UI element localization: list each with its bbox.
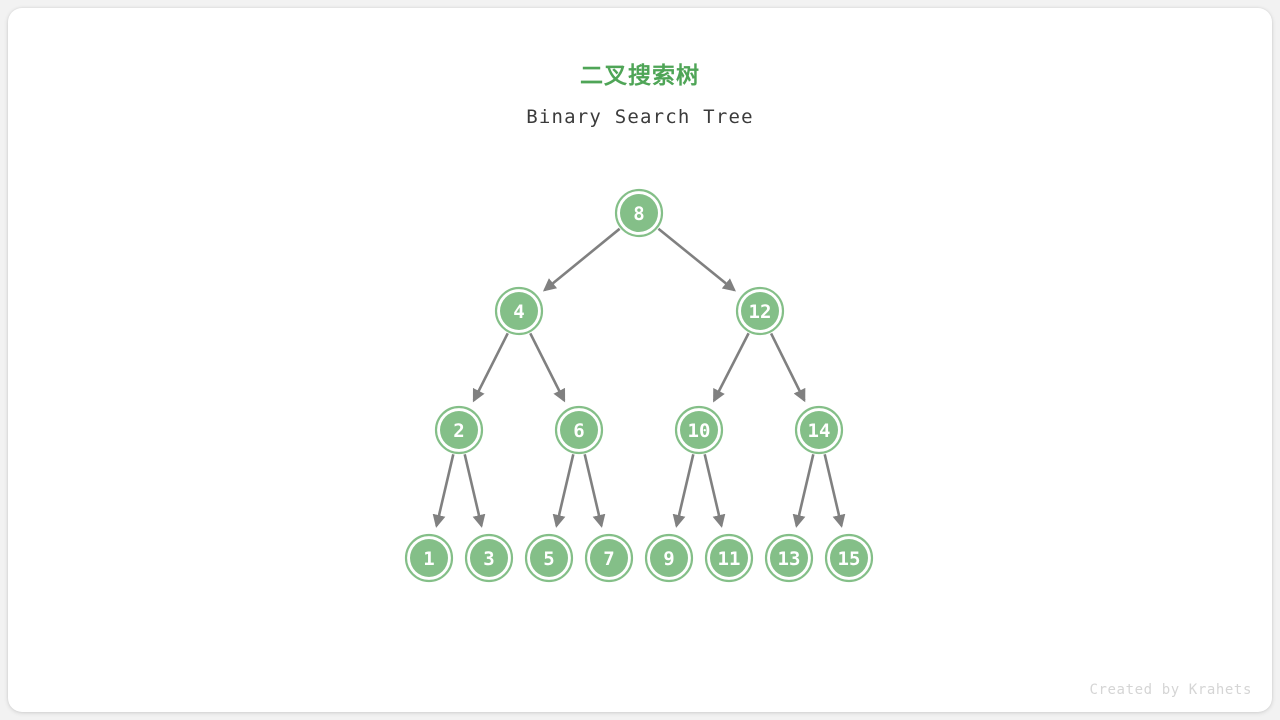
node-label: 2 xyxy=(453,420,464,442)
credit-watermark: Created by Krahets xyxy=(1089,682,1252,698)
tree-node-13[interactable]: 13 xyxy=(766,535,812,581)
tree-edge-2-to-1 xyxy=(437,454,454,526)
tree-edges xyxy=(437,229,842,526)
node-label: 15 xyxy=(838,548,861,570)
tree-node-2[interactable]: 2 xyxy=(436,407,482,453)
node-label: 12 xyxy=(749,301,772,323)
tree-edge-2-to-3 xyxy=(465,454,482,526)
tree-edge-6-to-5 xyxy=(557,454,574,526)
node-label: 3 xyxy=(483,548,494,570)
node-label: 8 xyxy=(633,203,644,225)
node-label: 4 xyxy=(513,301,524,323)
tree-edge-4-to-2 xyxy=(474,333,508,400)
tree-node-6[interactable]: 6 xyxy=(556,407,602,453)
tree-node-4[interactable]: 4 xyxy=(496,288,542,334)
tree-edge-8-to-4 xyxy=(545,229,620,290)
tree-edge-14-to-13 xyxy=(797,454,814,526)
tree-node-1[interactable]: 1 xyxy=(406,535,452,581)
tree-edge-12-to-14 xyxy=(771,333,804,400)
tree-edge-6-to-7 xyxy=(585,454,602,526)
tree-node-12[interactable]: 12 xyxy=(737,288,783,334)
tree-nodes: 841226101413579111315 xyxy=(406,190,872,581)
tree-node-15[interactable]: 15 xyxy=(826,535,872,581)
node-label: 9 xyxy=(663,548,674,570)
node-label: 11 xyxy=(718,548,741,570)
tree-edge-12-to-10 xyxy=(714,333,749,400)
node-label: 13 xyxy=(778,548,801,570)
tree-node-8[interactable]: 8 xyxy=(616,190,662,236)
node-label: 1 xyxy=(423,548,434,570)
node-label: 7 xyxy=(603,548,614,570)
screenshot-canvas: 二叉搜索树 Binary Search Tree 841226101413579… xyxy=(0,0,1280,720)
tree-edge-4-to-6 xyxy=(530,333,564,400)
tree-node-11[interactable]: 11 xyxy=(706,535,752,581)
tree-edge-10-to-9 xyxy=(677,454,694,526)
tree-edge-10-to-11 xyxy=(705,454,722,526)
binary-search-tree-diagram: 841226101413579111315 xyxy=(0,0,1280,720)
tree-node-10[interactable]: 10 xyxy=(676,407,722,453)
tree-node-5[interactable]: 5 xyxy=(526,535,572,581)
node-label: 14 xyxy=(808,420,831,442)
tree-edge-14-to-15 xyxy=(825,454,842,526)
tree-node-9[interactable]: 9 xyxy=(646,535,692,581)
tree-node-7[interactable]: 7 xyxy=(586,535,632,581)
node-label: 6 xyxy=(573,420,584,442)
tree-node-3[interactable]: 3 xyxy=(466,535,512,581)
node-label: 10 xyxy=(688,420,711,442)
tree-node-14[interactable]: 14 xyxy=(796,407,842,453)
node-label: 5 xyxy=(543,548,554,570)
tree-edge-8-to-12 xyxy=(658,229,734,290)
